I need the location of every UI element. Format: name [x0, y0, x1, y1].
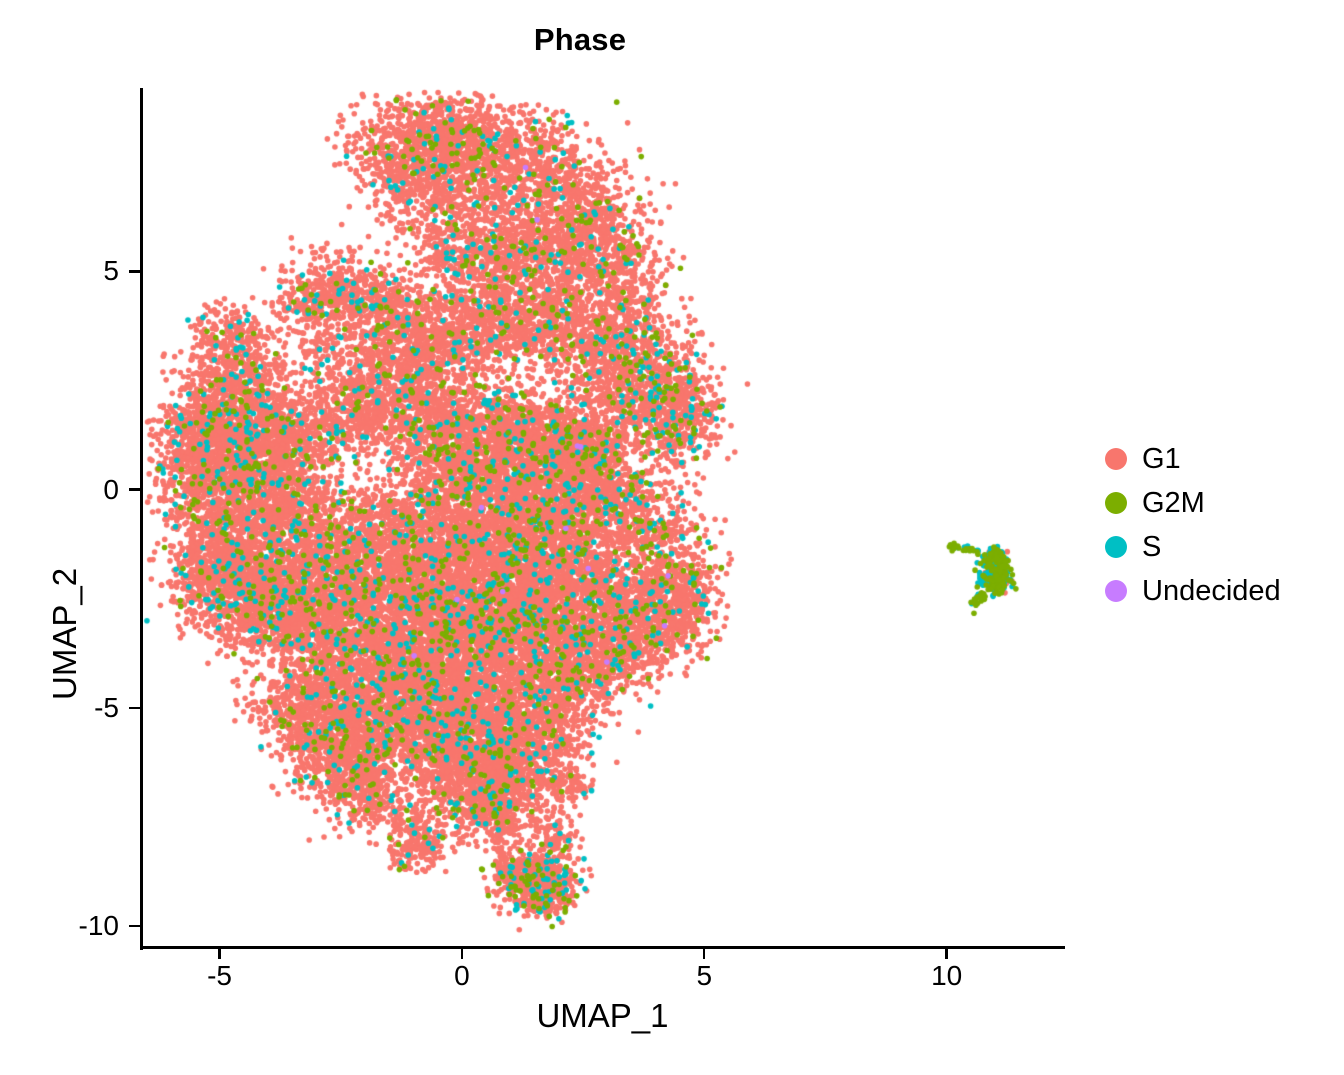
legend-swatch-icon: [1098, 437, 1134, 481]
x-tick-label: 0: [454, 960, 470, 992]
legend-swatch-icon: [1098, 569, 1134, 613]
y-axis-line: [140, 88, 143, 950]
legend: G1G2MSUndecided: [1098, 437, 1338, 613]
legend-item-undecided[interactable]: Undecided: [1098, 569, 1338, 613]
legend-dot-icon: [1105, 580, 1127, 602]
legend-item-g2m[interactable]: G2M: [1098, 481, 1338, 525]
legend-item-label: Undecided: [1142, 577, 1281, 606]
legend-dot-icon: [1105, 536, 1127, 558]
y-tick-label: -10: [79, 910, 119, 942]
y-tick-mark: [129, 707, 140, 709]
x-tick-mark: [703, 948, 705, 959]
x-tick-label: 10: [931, 960, 962, 992]
plot-panel: [142, 88, 1063, 948]
legend-dot-icon: [1105, 448, 1127, 470]
y-tick-label: -5: [94, 692, 119, 724]
legend-item-label: G2M: [1142, 489, 1205, 518]
legend-item-label: S: [1142, 533, 1161, 562]
scatter-points-layer: [142, 88, 1063, 948]
legend-item-s[interactable]: S: [1098, 525, 1338, 569]
plot-root: Phase -50510 50-5-10 UMAP_1 UMAP_2 G1G2M…: [0, 0, 1344, 1075]
page-title: Phase: [0, 22, 1160, 58]
x-tick-mark: [461, 948, 463, 959]
legend-swatch-icon: [1098, 525, 1134, 569]
x-axis-title: UMAP_1: [142, 997, 1063, 1035]
x-tick-mark: [945, 948, 947, 959]
x-tick-label: 5: [696, 960, 712, 992]
y-tick-mark: [129, 488, 140, 490]
legend-item-label: G1: [1142, 445, 1181, 474]
y-tick-label: 5: [103, 255, 119, 287]
legend-swatch-icon: [1098, 481, 1134, 525]
x-tick-mark: [218, 948, 220, 959]
y-tick-label: 0: [103, 474, 119, 506]
legend-item-g1[interactable]: G1: [1098, 437, 1338, 481]
x-tick-label: -5: [207, 960, 232, 992]
y-axis-title: UMAP_2: [46, 568, 84, 700]
x-axis-line: [140, 946, 1065, 949]
y-tick-mark: [129, 925, 140, 927]
legend-dot-icon: [1105, 492, 1127, 514]
y-tick-mark: [129, 270, 140, 272]
